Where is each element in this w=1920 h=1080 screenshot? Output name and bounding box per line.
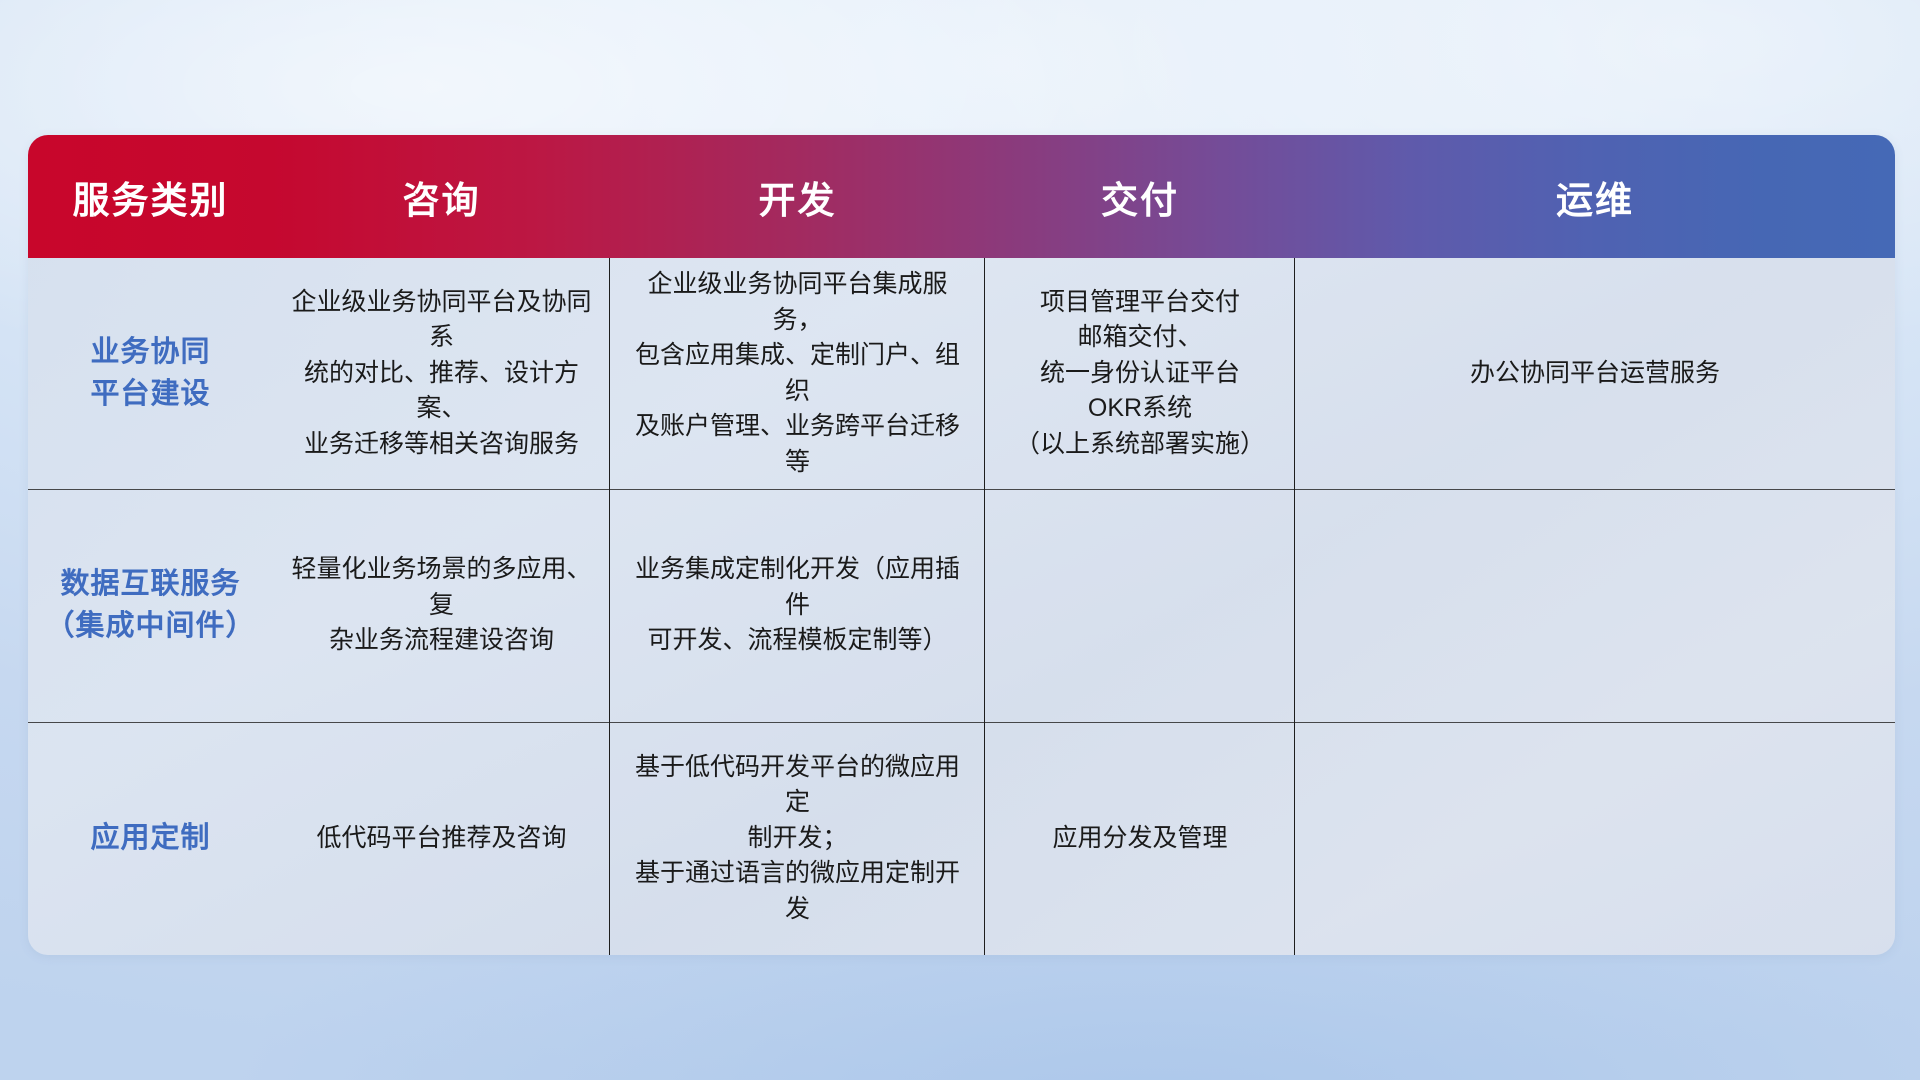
cell-operations <box>1295 722 1895 955</box>
cell-text: 应用分发及管理 <box>1052 821 1227 857</box>
service-category-table: 服务类别 咨询 开发 交付 运维 业务协同 平台建设 企业级业务协同平台及协同系… <box>28 135 1895 955</box>
header-cell-consulting: 咨询 <box>273 170 610 224</box>
cell-consulting: 轻量化业务场景的多应用、复 杂业务流程建设咨询 <box>273 489 610 722</box>
cell-delivery: 项目管理平台交付 邮箱交付、 统一身份认证平台 OKR系统 （以上系统部署实施） <box>985 258 1295 489</box>
header-cell-operations: 运维 <box>1295 170 1895 224</box>
cell-category: 数据互联服务 （集成中间件） <box>28 489 273 722</box>
table-row: 应用定制 低代码平台推荐及咨询 基于低代码开发平台的微应用定 制开发； 基于通过… <box>28 722 1895 955</box>
cell-category: 应用定制 <box>28 722 273 955</box>
table-body: 业务协同 平台建设 企业级业务协同平台及协同系 统的对比、推荐、设计方案、 业务… <box>28 258 1895 955</box>
category-label: 数据互联服务 （集成中间件） <box>45 564 255 646</box>
cell-development: 企业级业务协同平台集成服务， 包含应用集成、定制门户、组织 及账户管理、业务跨平… <box>610 258 985 489</box>
cell-text: 办公协同平台运营服务 <box>1470 356 1720 392</box>
category-label: 应用定制 <box>90 818 210 859</box>
cell-operations: 办公协同平台运营服务 <box>1295 258 1895 489</box>
cell-consulting: 低代码平台推荐及咨询 <box>273 722 610 955</box>
cell-development: 业务集成定制化开发（应用插件 可开发、流程模板定制等） <box>610 489 985 722</box>
cell-consulting: 企业级业务协同平台及协同系 统的对比、推荐、设计方案、 业务迁移等相关咨询服务 <box>273 258 610 489</box>
cell-text: 业务集成定制化开发（应用插件 可开发、流程模板定制等） <box>624 552 971 659</box>
table-row: 业务协同 平台建设 企业级业务协同平台及协同系 统的对比、推荐、设计方案、 业务… <box>28 258 1895 489</box>
cell-operations <box>1295 489 1895 722</box>
header-cell-development: 开发 <box>610 170 985 224</box>
cell-delivery: 应用分发及管理 <box>985 722 1295 955</box>
table-row: 数据互联服务 （集成中间件） 轻量化业务场景的多应用、复 杂业务流程建设咨询 业… <box>28 489 1895 722</box>
header-cell-category: 服务类别 <box>28 170 273 224</box>
cell-text: 项目管理平台交付 邮箱交付、 统一身份认证平台 OKR系统 （以上系统部署实施） <box>1015 285 1265 463</box>
cell-text: 低代码平台推荐及咨询 <box>316 821 566 857</box>
cell-delivery <box>985 489 1295 722</box>
cell-text: 企业级业务协同平台集成服务， 包含应用集成、定制门户、组织 及账户管理、业务跨平… <box>624 267 971 480</box>
cell-development: 基于低代码开发平台的微应用定 制开发； 基于通过语言的微应用定制开发 <box>610 722 985 955</box>
cell-text: 企业级业务协同平台及协同系 统的对比、推荐、设计方案、 业务迁移等相关咨询服务 <box>287 285 596 463</box>
header-cell-delivery: 交付 <box>985 170 1295 224</box>
cell-category: 业务协同 平台建设 <box>28 258 273 489</box>
cell-text: 基于低代码开发平台的微应用定 制开发； 基于通过语言的微应用定制开发 <box>624 750 971 928</box>
table-header-row: 服务类别 咨询 开发 交付 运维 <box>28 135 1895 258</box>
cell-text: 轻量化业务场景的多应用、复 杂业务流程建设咨询 <box>287 552 596 659</box>
category-label: 业务协同 平台建设 <box>90 332 210 414</box>
